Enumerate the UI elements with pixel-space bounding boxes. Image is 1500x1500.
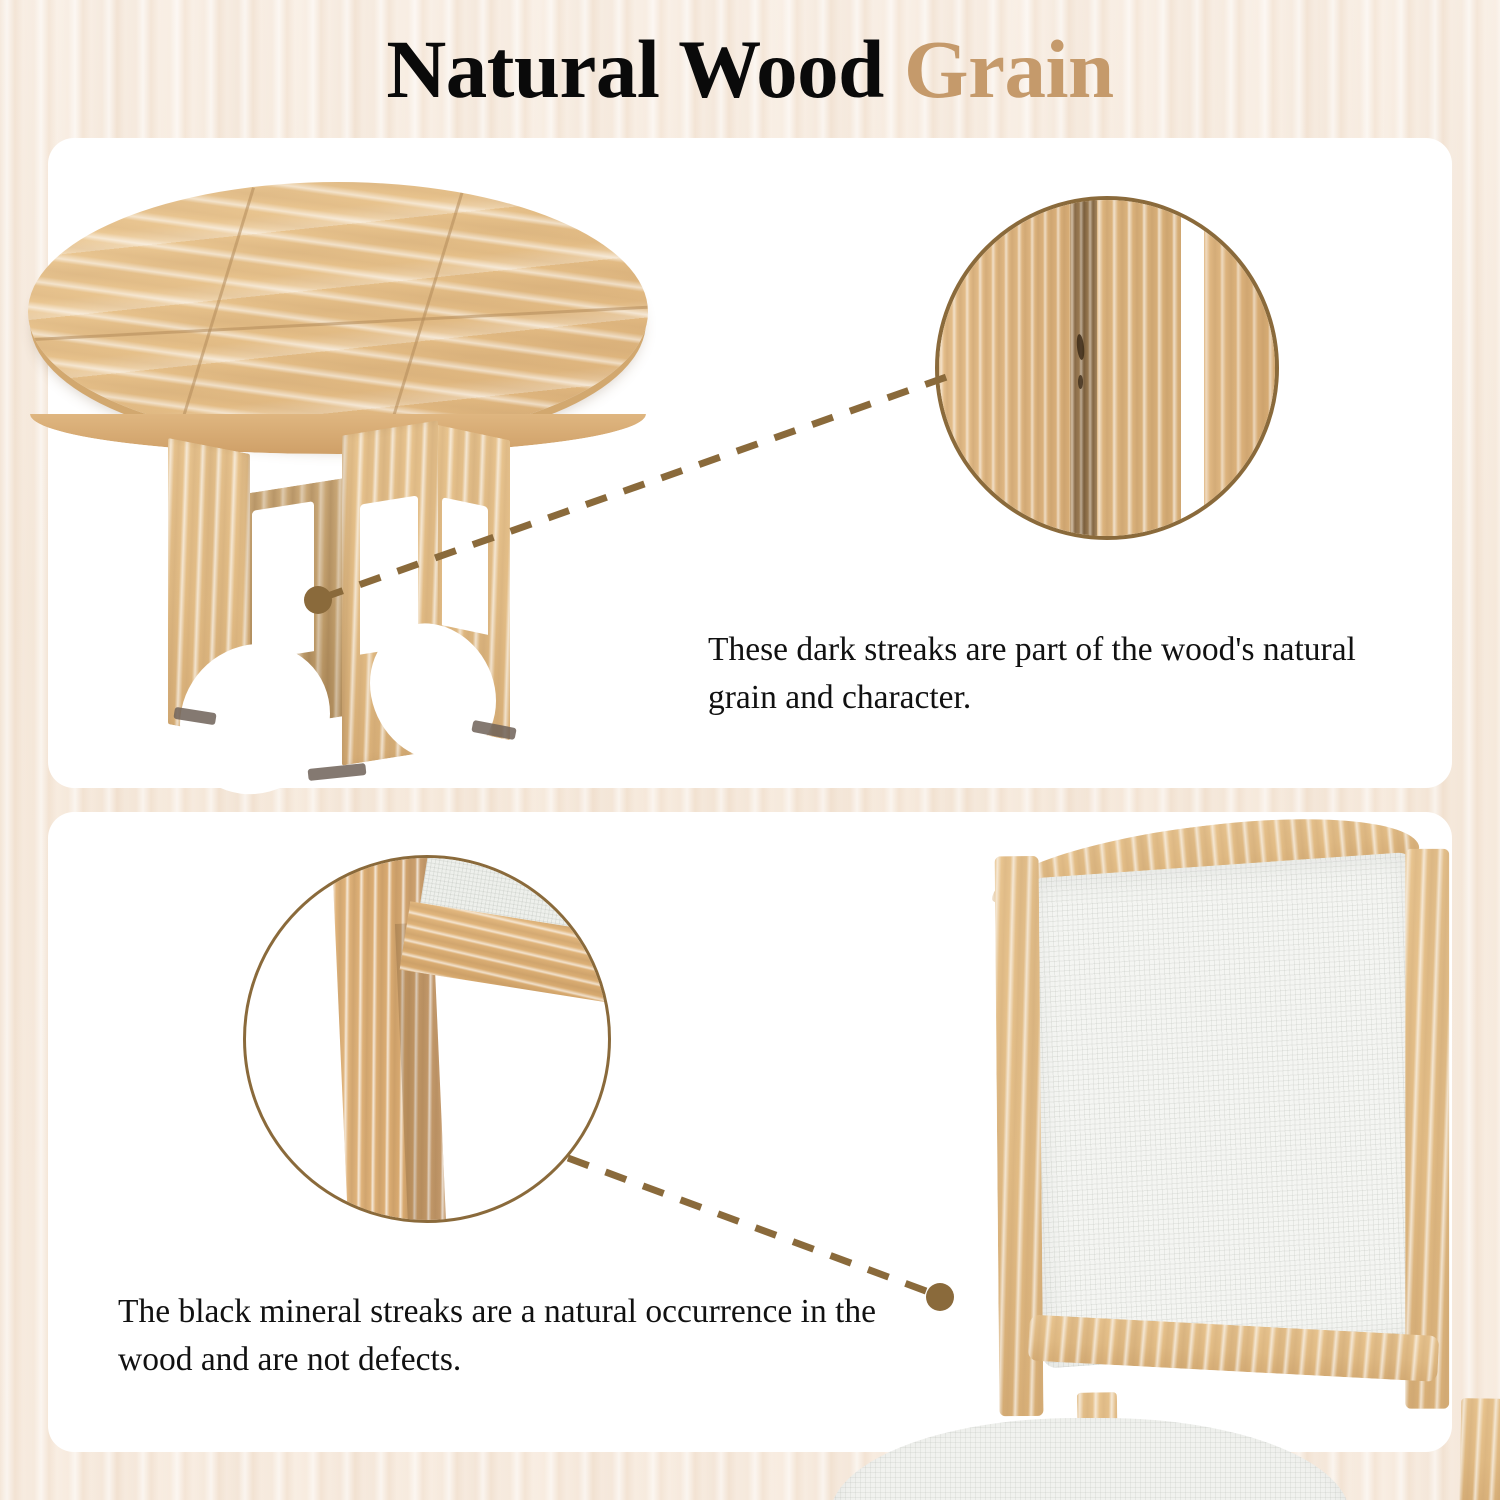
chair-back-leg bbox=[1459, 1398, 1500, 1500]
connector-anchor-dot bbox=[304, 586, 332, 614]
title-primary: Natural Wood bbox=[386, 23, 883, 115]
dark-streak-grain-panel bbox=[1070, 196, 1100, 540]
table-foot bbox=[308, 763, 367, 781]
chair-joint-closeup-circle bbox=[243, 855, 611, 1223]
chair-back-frame bbox=[957, 814, 1466, 1408]
grain-panel bbox=[1097, 196, 1181, 540]
page-title: Natural Wood Grain bbox=[0, 28, 1500, 111]
grain-panel-gap bbox=[1181, 196, 1205, 540]
chair-back-cushion bbox=[1026, 852, 1432, 1369]
connector-anchor-dot bbox=[926, 1283, 954, 1311]
dining-chair-image bbox=[900, 818, 1500, 1500]
callout-connector-top bbox=[300, 360, 980, 620]
panel-table-caption: These dark streaks are part of the wood'… bbox=[708, 626, 1428, 721]
wood-grain-closeup-circle bbox=[935, 196, 1279, 540]
table-leaf-seam bbox=[176, 187, 255, 437]
infographic-page: Natural Wood Grain bbox=[0, 0, 1500, 1500]
grain-panel bbox=[1204, 196, 1275, 540]
chair-stile-right bbox=[1405, 849, 1449, 1409]
title-text: Natural Wood Grain bbox=[386, 23, 1113, 115]
panel-chair-caption: The black mineral streaks are a natural … bbox=[118, 1288, 918, 1383]
table-leaf-seam bbox=[28, 306, 647, 341]
title-accent: Grain bbox=[904, 23, 1114, 115]
dashed-line bbox=[322, 374, 955, 598]
dashed-line bbox=[568, 1158, 934, 1294]
chair-seat-cushion bbox=[830, 1418, 1350, 1500]
